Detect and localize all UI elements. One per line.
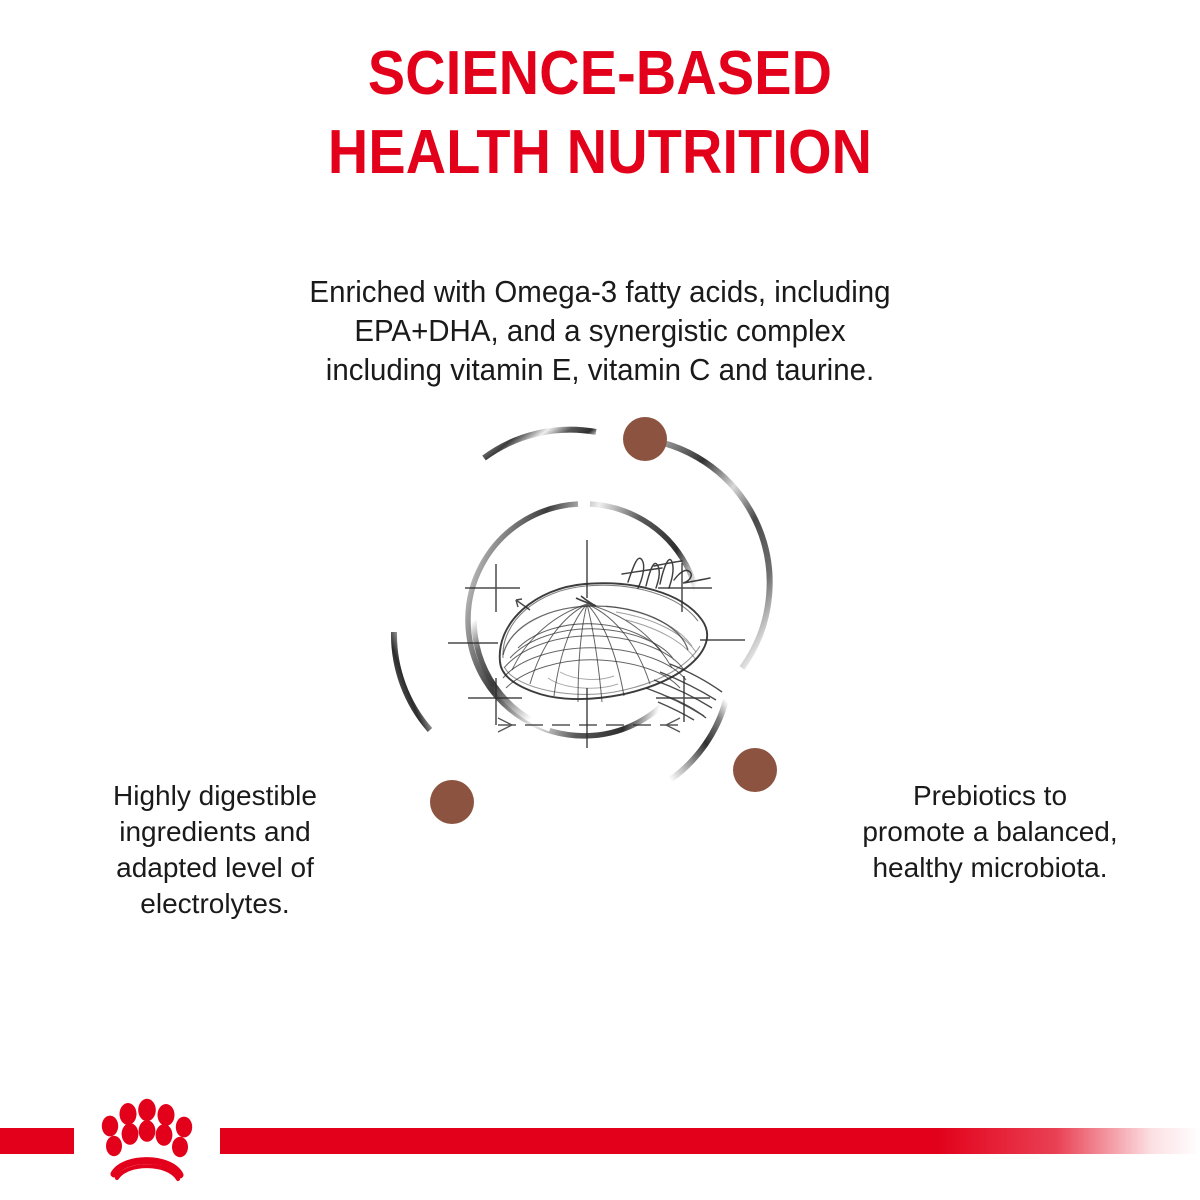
- poster-canvas: SCIENCE-BASED HEALTH NUTRITION Enriched …: [0, 0, 1200, 1200]
- registration-marks: [448, 540, 745, 748]
- kibble-dot-top: [623, 417, 667, 461]
- benefit-right-line-1: Prebiotics to: [800, 778, 1180, 814]
- kibble-blueprint-sketch: [448, 540, 745, 748]
- benefit-left-line-2: ingredients and: [40, 814, 390, 850]
- kibble-dot-bottom-left: [430, 780, 474, 824]
- crown-base-arc: [114, 1161, 180, 1179]
- benefit-right-line-3: healthy microbiota.: [800, 850, 1180, 886]
- kibble-body: [500, 583, 722, 720]
- page-title-line-2: HEALTH NUTRITION: [60, 113, 1140, 192]
- page-title: SCIENCE-BASED HEALTH NUTRITION: [60, 34, 1140, 193]
- benefit-left-line-3: adapted level of: [40, 850, 390, 886]
- intro-line-2: EPA+DHA, and a synergistic complex: [201, 311, 999, 350]
- benefit-right-line-2: promote a balanced,: [800, 814, 1180, 850]
- emblem-outer-ring: [394, 430, 770, 780]
- kibble-emblem: [370, 400, 810, 840]
- benefit-caption-right: Prebiotics to promote a balanced, health…: [800, 778, 1180, 886]
- benefit-left-line-1: Highly digestible: [40, 778, 390, 814]
- intro-line-1: Enriched with Omega-3 fatty acids, inclu…: [201, 272, 999, 311]
- intro-line-3: including vitamin E, vitamin C and tauri…: [201, 350, 999, 389]
- intro-paragraph: Enriched with Omega-3 fatty acids, inclu…: [201, 272, 999, 389]
- page-title-line-1: SCIENCE-BASED: [60, 34, 1140, 113]
- crown-dots: [102, 1099, 192, 1157]
- benefit-caption-left: Highly digestible ingredients and adapte…: [40, 778, 390, 922]
- royal-canin-crown-logo: [80, 1098, 214, 1190]
- kibble-dot-bottom-right: [733, 748, 777, 792]
- benefit-left-line-4: electrolytes.: [40, 886, 390, 922]
